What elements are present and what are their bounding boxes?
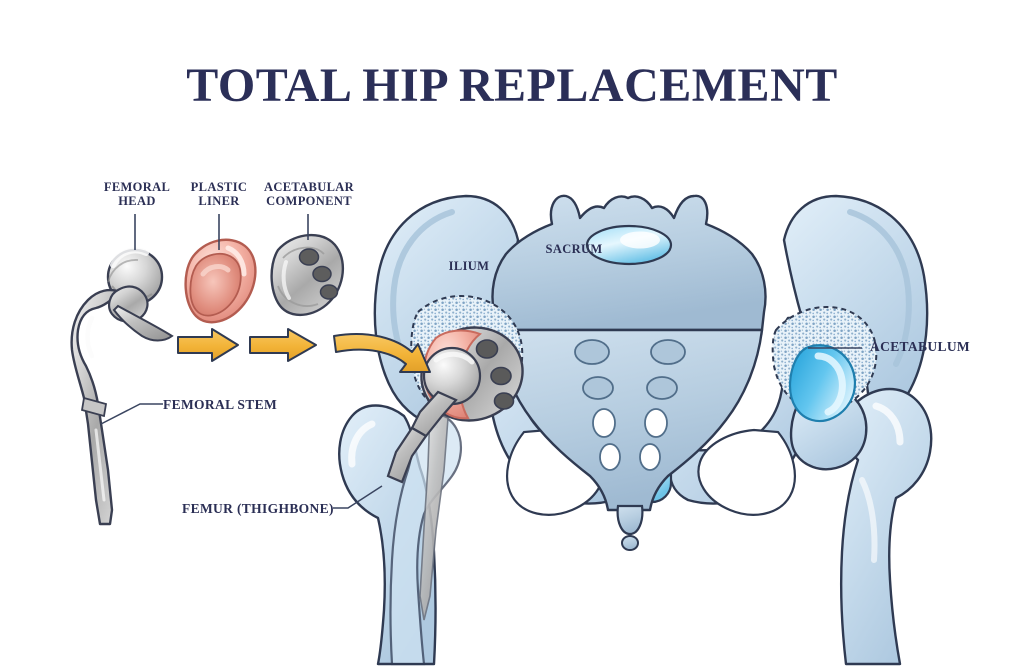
hip-replacement-illustration [0,0,1024,667]
right-femur [791,388,931,664]
femoral-stem-component [72,287,172,524]
label-ilium: ILIUM [439,259,499,273]
arrow-2 [250,329,316,361]
label-femoral-stem: FEMORAL STEM [163,397,293,413]
arrow-1 [178,329,238,361]
acetabular-component-shell [272,235,343,315]
label-acetabular-component: ACETABULAR COMPONENT [245,180,373,209]
plastic-liner-component [186,240,256,322]
label-acetabulum: ACETABULUM [870,339,1000,355]
label-sacrum: SACRUM [538,242,610,256]
label-femur: FEMUR (THIGHBONE) [182,501,334,517]
diagram-canvas: TOTAL HIP REPLACEMENT [0,0,1024,667]
